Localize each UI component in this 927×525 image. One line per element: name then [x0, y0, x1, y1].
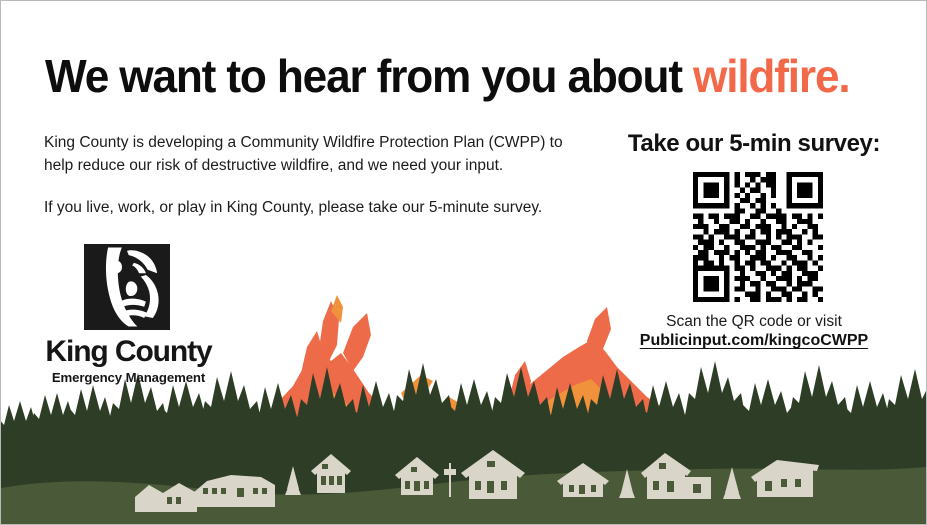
survey-heading: Take our 5-min survey:: [609, 130, 899, 158]
page-title: We want to hear from you about wildfire.: [45, 48, 849, 104]
qr-code-icon[interactable]: [685, 172, 831, 302]
headline-main: We want to hear from you about: [45, 50, 693, 102]
king-county-logo: King County Emergency Management: [36, 244, 221, 385]
body-paragraph-2: If you live, work, or play in King Count…: [44, 197, 584, 220]
body-paragraph-1: King County is developing a Community Wi…: [44, 132, 584, 177]
house-silhouettes: [135, 450, 819, 512]
foreground-hill: [1, 467, 926, 524]
body-copy: King County is developing a Community Wi…: [44, 132, 584, 220]
scan-instruction: Scan the QR code or visit: [609, 311, 899, 332]
survey-url-link[interactable]: Publicinput.com/kingcoCWPP: [609, 332, 899, 350]
logo-subtitle: Emergency Management: [36, 370, 221, 385]
logo-name: King County: [36, 336, 221, 368]
wildfire-survey-poster: We want to hear from you about wildfire.…: [0, 0, 927, 525]
qr-code-container[interactable]: [685, 172, 831, 302]
headline-accent: wildfire.: [693, 50, 849, 102]
forest-treeline: [1, 361, 926, 524]
king-county-mlk-portrait-icon: [84, 244, 170, 330]
survey-url-text[interactable]: Publicinput.com/kingcoCWPP: [640, 332, 868, 349]
